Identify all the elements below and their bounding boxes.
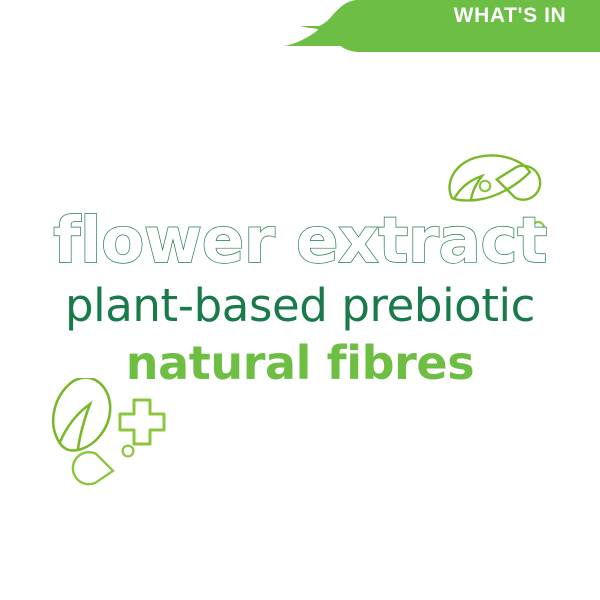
banner-label: WHAT'S IN <box>430 3 590 29</box>
whats-in-banner: WHAT'S IN <box>0 0 600 52</box>
leaf-icon <box>450 155 530 200</box>
headline-block: flower extract plant-based prebiotic nat… <box>0 206 600 392</box>
promo-graphic: WHAT'S IN fl <box>0 0 600 600</box>
headline-line-flower-extract: flower extract <box>0 206 600 276</box>
droplet-icon <box>497 156 547 206</box>
circle-icon <box>123 446 134 457</box>
plus-icon <box>120 400 164 444</box>
headline-line-plant-based-prebiotic: plant-based prebiotic <box>0 278 600 334</box>
decoration-bottom-left <box>38 378 198 498</box>
headline-line-natural-fibres: natural fibres <box>0 334 600 392</box>
droplet-icon <box>66 446 113 493</box>
circle-icon <box>480 181 490 191</box>
